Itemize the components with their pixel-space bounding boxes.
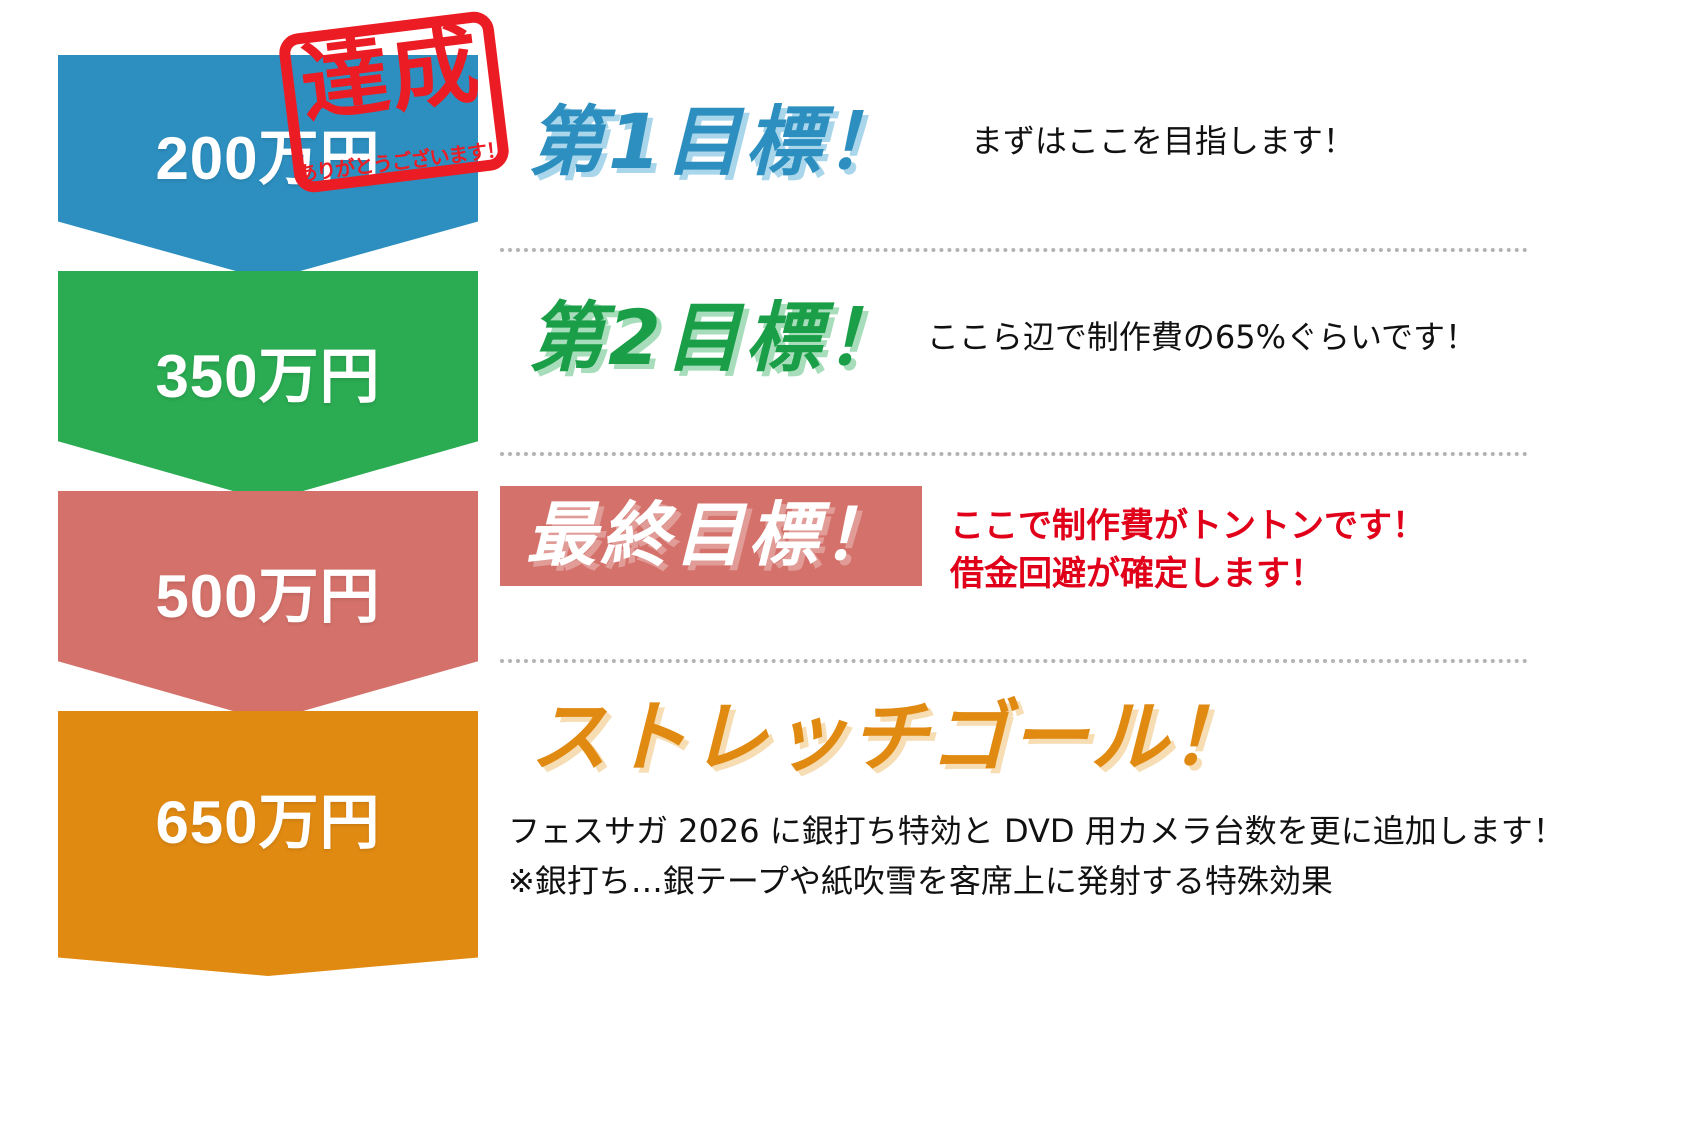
stretch-goal-desc-line1: フェスサガ 2026 に銀打ち特効と DVD 用カメラ台数を更に追加します！ [508, 807, 1630, 857]
goal-description-column: 第1目標！ まずはここを目指します！ 第2目標！ ここら辺で制作費の65%ぐらい… [500, 52, 1630, 906]
goal-row-3: 最終目標！ ここで制作費がトントンです！ 借金回避が確定します！ [500, 456, 1630, 659]
goal-heading-2: 第2目標！ [528, 300, 905, 376]
goal-row-4: ストレッチゴール！ フェスサガ 2026 に銀打ち特効と DVD 用カメラ台数を… [500, 663, 1630, 906]
funding-tier-banner-column: 200万円 350万円 500万円 650万円 [58, 55, 478, 955]
final-goal-banner: 最終目標！ [500, 486, 922, 586]
tier-banner-650: 650万円 [58, 711, 478, 976]
tier-banner-500: 500万円 [58, 491, 478, 721]
goal-note-3-line2: 借金回避が確定します！ [950, 550, 1426, 598]
goal-note-3-line1: ここで制作費がトントンです！ [950, 502, 1426, 550]
goal-row-1: 第1目標！ まずはここを目指します！ [500, 52, 1630, 248]
goal-heading-3: 最終目標！ [526, 494, 896, 576]
goal-row-2: 第2目標！ ここら辺で制作費の65%ぐらいです！ [500, 252, 1630, 452]
goal-heading-4: ストレッチゴール！ [530, 699, 1250, 777]
goal-note-2: ここら辺で制作費の65%ぐらいです！ [927, 316, 1477, 359]
tier-amount-label: 500万円 [155, 567, 380, 627]
tier-banner-200: 200万円 [58, 55, 478, 280]
goal-heading-1: 第1目標！ [528, 104, 905, 180]
goal-note-1: まずはここを目指します！ [971, 120, 1355, 163]
infographic-root: 200万円 350万円 500万円 650万円 達成 ありがとうございます！ 第… [0, 0, 1688, 1125]
tier-amount-label: 650万円 [155, 793, 380, 853]
stretch-goal-desc-line2: ※銀打ち…銀テープや紙吹雪を客席上に発射する特殊効果 [508, 857, 1630, 907]
tier-amount-label: 350万円 [155, 347, 380, 407]
tier-banner-350: 350万円 [58, 271, 478, 501]
tier-amount-label: 200万円 [155, 129, 380, 189]
